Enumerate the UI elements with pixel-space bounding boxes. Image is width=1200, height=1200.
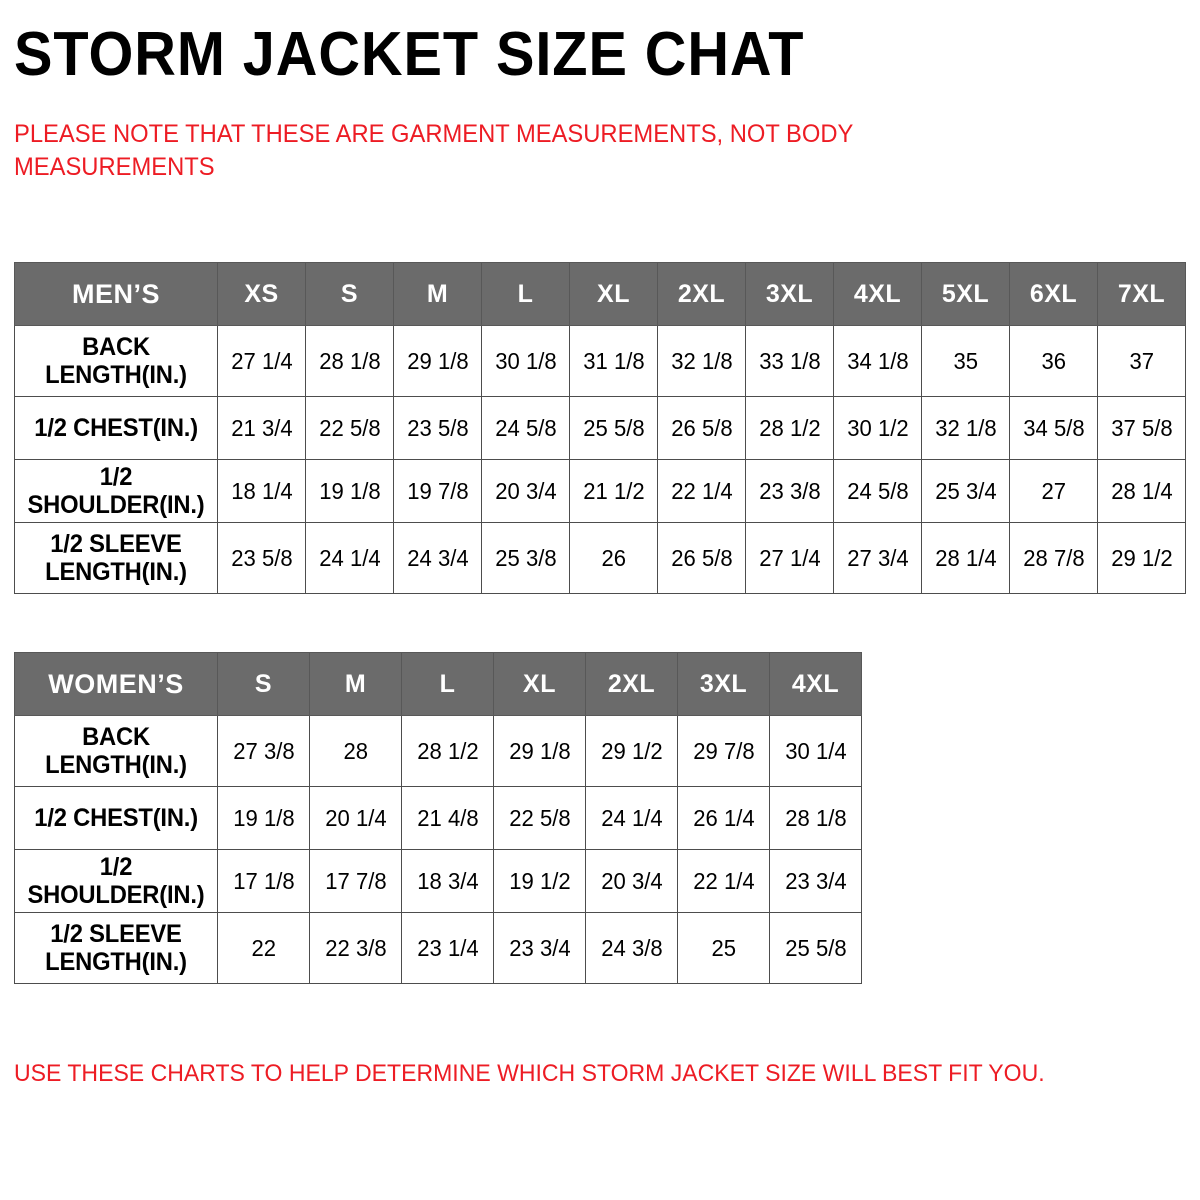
table-cell: 27 3/8	[218, 716, 310, 787]
table-cell: 23 3/8	[746, 460, 834, 523]
page-title: STORM JACKET SIZE CHAT	[14, 22, 804, 87]
table-cell: 22	[218, 913, 310, 984]
mens-table-head: MEN’S XS S M L XL 2XL 3XL 4XL 5XL 6XL 7X…	[15, 263, 1186, 326]
womens-size-table: WOMEN’S S M L XL 2XL 3XL 4XL BACK LENGTH…	[14, 652, 862, 984]
table-cell: 37	[1098, 326, 1186, 397]
womens-row-label-half-sleeve-length: 1/2 SLEEVE LENGTH(IN.)	[15, 913, 218, 984]
table-cell: 32 1/8	[658, 326, 746, 397]
mens-row-label-back-length: BACK LENGTH(IN.)	[15, 326, 218, 397]
table-cell: 23 5/8	[218, 523, 306, 594]
table-cell: 22 1/4	[678, 850, 770, 913]
table-cell: 19 1/2	[494, 850, 586, 913]
table-cell: 29 1/8	[494, 716, 586, 787]
mens-col-m: M	[394, 263, 482, 326]
table-cell: 25 5/8	[770, 913, 862, 984]
table-cell: 28 1/4	[922, 523, 1010, 594]
womens-col-4xl: 4XL	[770, 653, 862, 716]
table-cell: 31 1/8	[570, 326, 658, 397]
table-cell: 30 1/8	[482, 326, 570, 397]
table-cell: 18 3/4	[402, 850, 494, 913]
table-cell: 17 7/8	[310, 850, 402, 913]
mens-row-label-half-shoulder: 1/2 SHOULDER(IN.)	[15, 460, 218, 523]
table-cell: 26 5/8	[658, 397, 746, 460]
mens-size-table: MEN’S XS S M L XL 2XL 3XL 4XL 5XL 6XL 7X…	[14, 262, 1186, 594]
womens-col-m: M	[310, 653, 402, 716]
table-cell: 28 1/4	[1098, 460, 1186, 523]
womens-col-3xl: 3XL	[678, 653, 770, 716]
mens-col-s: S	[306, 263, 394, 326]
table-cell: 22 5/8	[494, 787, 586, 850]
table-cell: 25 5/8	[570, 397, 658, 460]
table-cell: 30 1/4	[770, 716, 862, 787]
table-cell: 36	[1010, 326, 1098, 397]
table-cell: 26	[570, 523, 658, 594]
mens-col-xs: XS	[218, 263, 306, 326]
table-cell: 19 7/8	[394, 460, 482, 523]
womens-table-head: WOMEN’S S M L XL 2XL 3XL 4XL	[15, 653, 862, 716]
mens-col-xl: XL	[570, 263, 658, 326]
table-cell: 28 7/8	[1010, 523, 1098, 594]
mens-row-half-shoulder: 1/2 SHOULDER(IN.) 18 1/4 19 1/8 19 7/8 2…	[15, 460, 1186, 523]
mens-col-3xl: 3XL	[746, 263, 834, 326]
womens-col-l: L	[402, 653, 494, 716]
table-cell: 25	[678, 913, 770, 984]
size-chart-page: STORM JACKET SIZE CHAT PLEASE NOTE THAT …	[0, 0, 1200, 1200]
table-cell: 21 3/4	[218, 397, 306, 460]
table-cell: 23 1/4	[402, 913, 494, 984]
mens-col-6xl: 6XL	[1010, 263, 1098, 326]
table-cell: 21 1/2	[570, 460, 658, 523]
table-cell: 37 5/8	[1098, 397, 1186, 460]
table-cell: 22 3/8	[310, 913, 402, 984]
mens-row-half-chest: 1/2 CHEST(IN.) 21 3/4 22 5/8 23 5/8 24 5…	[15, 397, 1186, 460]
table-cell: 19 1/8	[306, 460, 394, 523]
table-cell: 24 3/4	[394, 523, 482, 594]
table-cell: 34 5/8	[1010, 397, 1098, 460]
table-cell: 27 3/4	[834, 523, 922, 594]
table-cell: 28 1/2	[402, 716, 494, 787]
table-cell: 19 1/8	[218, 787, 310, 850]
table-cell: 20 3/4	[586, 850, 678, 913]
table-cell: 22 1/4	[658, 460, 746, 523]
mens-row-label-half-chest: 1/2 CHEST(IN.)	[15, 397, 218, 460]
table-cell: 33 1/8	[746, 326, 834, 397]
garment-measurement-note: PLEASE NOTE THAT THESE ARE GARMENT MEASU…	[14, 118, 926, 184]
mens-col-7xl: 7XL	[1098, 263, 1186, 326]
mens-row-label-half-sleeve-length: 1/2 SLEEVE LENGTH(IN.)	[15, 523, 218, 594]
table-cell: 29 1/2	[586, 716, 678, 787]
table-cell: 21 4/8	[402, 787, 494, 850]
mens-col-5xl: 5XL	[922, 263, 1010, 326]
table-cell: 23 3/4	[494, 913, 586, 984]
mens-header-row: MEN’S XS S M L XL 2XL 3XL 4XL 5XL 6XL 7X…	[15, 263, 1186, 326]
table-cell: 28 1/8	[306, 326, 394, 397]
table-cell: 28 1/2	[746, 397, 834, 460]
table-cell: 35	[922, 326, 1010, 397]
table-cell: 17 1/8	[218, 850, 310, 913]
womens-header-row: WOMEN’S S M L XL 2XL 3XL 4XL	[15, 653, 862, 716]
table-cell: 32 1/8	[922, 397, 1010, 460]
womens-row-half-shoulder: 1/2 SHOULDER(IN.) 17 1/8 17 7/8 18 3/4 1…	[15, 850, 862, 913]
womens-table-body: BACK LENGTH(IN.) 27 3/8 28 28 1/2 29 1/8…	[15, 716, 862, 984]
table-cell: 24 5/8	[834, 460, 922, 523]
table-cell: 26 1/4	[678, 787, 770, 850]
womens-row-back-length: BACK LENGTH(IN.) 27 3/8 28 28 1/2 29 1/8…	[15, 716, 862, 787]
womens-col-2xl: 2XL	[586, 653, 678, 716]
table-cell: 22 5/8	[306, 397, 394, 460]
table-cell: 29 1/2	[1098, 523, 1186, 594]
mens-col-2xl: 2XL	[658, 263, 746, 326]
table-cell: 23 5/8	[394, 397, 482, 460]
table-cell: 26 5/8	[658, 523, 746, 594]
womens-row-label-half-chest: 1/2 CHEST(IN.)	[15, 787, 218, 850]
fit-guidance-note: USE THESE CHARTS TO HELP DETERMINE WHICH…	[14, 1058, 1128, 1089]
womens-col-xl: XL	[494, 653, 586, 716]
table-cell: 25 3/8	[482, 523, 570, 594]
womens-corner-label: WOMEN’S	[15, 653, 218, 716]
table-cell: 34 1/8	[834, 326, 922, 397]
womens-row-half-chest: 1/2 CHEST(IN.) 19 1/8 20 1/4 21 4/8 22 5…	[15, 787, 862, 850]
womens-row-label-half-shoulder: 1/2 SHOULDER(IN.)	[15, 850, 218, 913]
table-cell: 20 1/4	[310, 787, 402, 850]
mens-row-back-length: BACK LENGTH(IN.) 27 1/4 28 1/8 29 1/8 30…	[15, 326, 1186, 397]
table-cell: 27	[1010, 460, 1098, 523]
table-cell: 20 3/4	[482, 460, 570, 523]
mens-corner-label: MEN’S	[15, 263, 218, 326]
mens-table-body: BACK LENGTH(IN.) 27 1/4 28 1/8 29 1/8 30…	[15, 326, 1186, 594]
table-cell: 29 7/8	[678, 716, 770, 787]
table-cell: 30 1/2	[834, 397, 922, 460]
womens-row-label-back-length: BACK LENGTH(IN.)	[15, 716, 218, 787]
table-cell: 23 3/4	[770, 850, 862, 913]
table-cell: 24 1/4	[586, 787, 678, 850]
table-cell: 24 5/8	[482, 397, 570, 460]
mens-row-half-sleeve-length: 1/2 SLEEVE LENGTH(IN.) 23 5/8 24 1/4 24 …	[15, 523, 1186, 594]
table-cell: 28	[310, 716, 402, 787]
table-cell: 27 1/4	[218, 326, 306, 397]
table-cell: 28 1/8	[770, 787, 862, 850]
mens-col-4xl: 4XL	[834, 263, 922, 326]
mens-col-l: L	[482, 263, 570, 326]
table-cell: 29 1/8	[394, 326, 482, 397]
table-cell: 27 1/4	[746, 523, 834, 594]
table-cell: 18 1/4	[218, 460, 306, 523]
table-cell: 25 3/4	[922, 460, 1010, 523]
womens-col-s: S	[218, 653, 310, 716]
womens-row-half-sleeve-length: 1/2 SLEEVE LENGTH(IN.) 22 22 3/8 23 1/4 …	[15, 913, 862, 984]
table-cell: 24 3/8	[586, 913, 678, 984]
table-cell: 24 1/4	[306, 523, 394, 594]
